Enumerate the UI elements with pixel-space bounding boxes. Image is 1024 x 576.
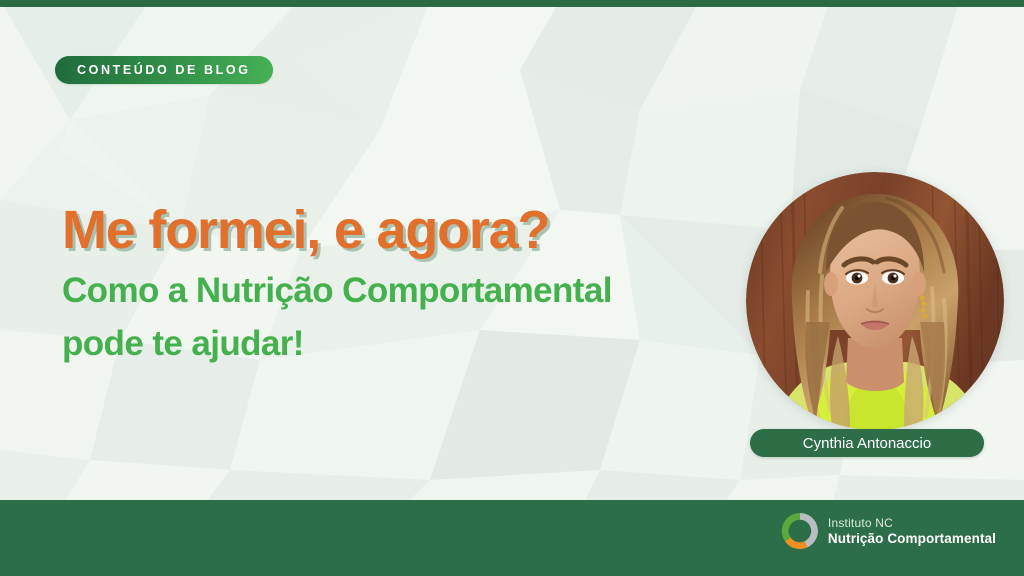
- subtitle-line-1: Como a Nutrição Comportamental: [62, 271, 612, 310]
- author-name: Cynthia Antonaccio: [803, 436, 931, 451]
- top-accent-bar: [0, 0, 1024, 7]
- brand-logo: Instituto NC Nutrição Comportamental: [781, 512, 996, 550]
- brand-line-2: Nutrição Comportamental: [828, 532, 996, 546]
- brand-line-1: Instituto NC: [828, 517, 996, 529]
- page-title: Me formei, e agora?: [62, 202, 549, 259]
- avatar: [746, 172, 1004, 430]
- status-badge: Cynthia Antonaccio: [750, 429, 984, 457]
- category-pill-label: CONTEÚDO DE BLOG: [77, 64, 251, 77]
- portrait-illustration: [746, 172, 1004, 430]
- category-pill: CONTEÚDO DE BLOG: [55, 56, 273, 84]
- subtitle-line-2: pode te ajudar!: [62, 318, 722, 371]
- page-subtitle: Como a Nutrição Comportamental pode te a…: [62, 265, 722, 370]
- ring-logo-icon: [781, 512, 819, 550]
- brand-logo-text: Instituto NC Nutrição Comportamental: [828, 517, 996, 546]
- slide-canvas: CONTEÚDO DE BLOG Me formei, e agora? Com…: [0, 0, 1024, 576]
